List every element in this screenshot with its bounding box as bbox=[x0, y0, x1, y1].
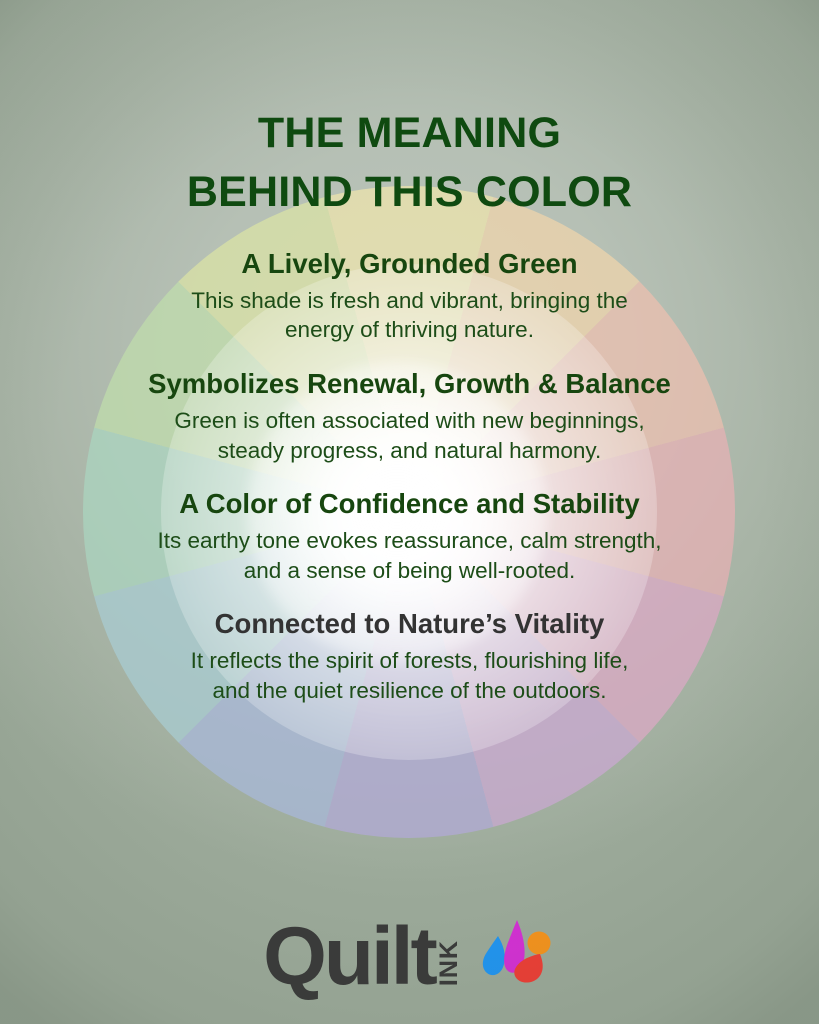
section-symbolizes-renewal: Symbolizes Renewal, Growth & Balance Gre… bbox=[0, 367, 819, 465]
section-heading: Symbolizes Renewal, Growth & Balance bbox=[0, 367, 819, 401]
blue-ink-drop bbox=[483, 936, 505, 975]
page-title-line-1: THE MEANING bbox=[187, 104, 632, 163]
section-body: Its earthy tone evokes reassurance, calm… bbox=[0, 526, 819, 585]
brand-wordmark: Quilt INK bbox=[263, 923, 462, 990]
section-heading: Connected to Nature’s Vitality bbox=[0, 607, 819, 641]
poster-content: THE MEANING BEHIND THIS COLOR A Lively, … bbox=[0, 0, 819, 1024]
section-body: This shade is fresh and vibrant, bringin… bbox=[0, 286, 819, 345]
page-title: THE MEANING BEHIND THIS COLOR bbox=[187, 104, 632, 223]
section-natures-vitality: Connected to Nature’s Vitality It reflec… bbox=[0, 607, 819, 705]
brand-logo: Quilt INK bbox=[0, 910, 819, 990]
section-body-line: This shade is fresh and vibrant, bringin… bbox=[0, 286, 819, 315]
page-title-line-2: BEHIND THIS COLOR bbox=[187, 163, 632, 222]
section-body: It reflects the spirit of forests, flour… bbox=[0, 646, 819, 705]
section-heading: A Color of Confidence and Stability bbox=[0, 487, 819, 521]
section-body-line: It reflects the spirit of forests, flour… bbox=[0, 646, 819, 675]
brand-suffix-text: INK bbox=[437, 940, 462, 986]
section-confidence-stability: A Color of Confidence and Stability Its … bbox=[0, 487, 819, 585]
brand-wordmark-text: Quilt bbox=[263, 923, 435, 990]
section-body-line: energy of thriving nature. bbox=[0, 315, 819, 344]
section-body-line: and a sense of being well-rooted. bbox=[0, 556, 819, 585]
section-body: Green is often associated with new begin… bbox=[0, 406, 819, 465]
section-body-line: Green is often associated with new begin… bbox=[0, 406, 819, 435]
poster-canvas: THE MEANING BEHIND THIS COLOR A Lively, … bbox=[0, 0, 819, 1024]
section-body-line: steady progress, and natural harmony. bbox=[0, 436, 819, 465]
section-heading: A Lively, Grounded Green bbox=[0, 247, 819, 281]
orange-ink-dot bbox=[527, 932, 550, 955]
ink-droplets-icon bbox=[478, 910, 556, 988]
section-body-line: Its earthy tone evokes reassurance, calm… bbox=[0, 526, 819, 555]
section-lively-grounded-green: A Lively, Grounded Green This shade is f… bbox=[0, 247, 819, 345]
section-body-line: and the quiet resilience of the outdoors… bbox=[0, 676, 819, 705]
section-list: A Lively, Grounded Green This shade is f… bbox=[0, 247, 819, 727]
